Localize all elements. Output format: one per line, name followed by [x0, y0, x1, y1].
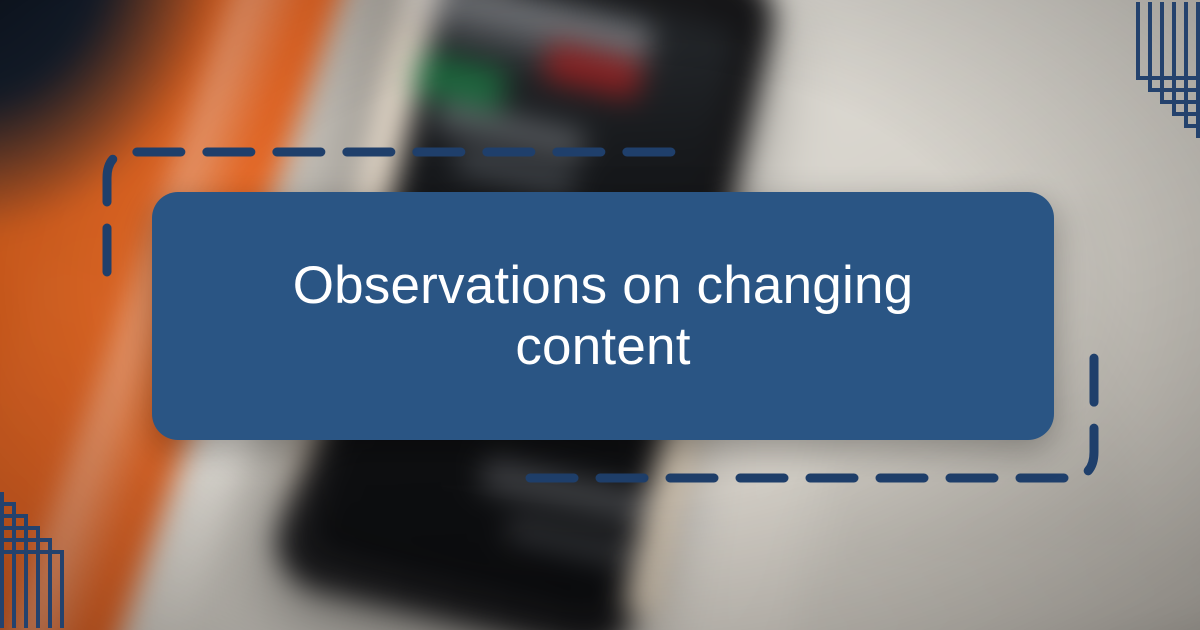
page-title: Observations on changing content [229, 255, 977, 378]
social-card-canvas: Observations on changing content [0, 0, 1200, 630]
title-card: Observations on changing content [152, 192, 1054, 440]
